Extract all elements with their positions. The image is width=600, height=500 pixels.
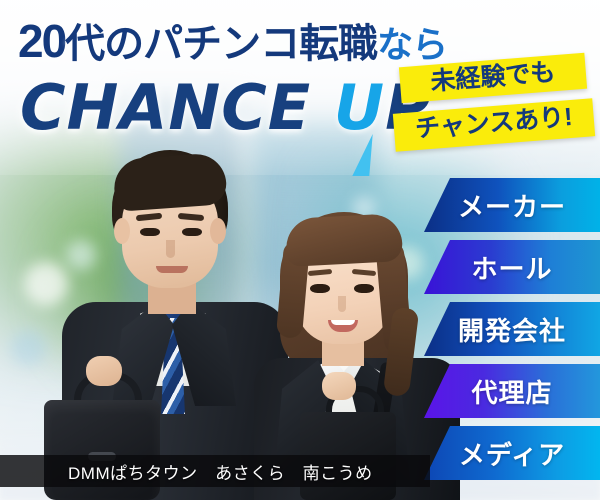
category-button-agency[interactable]: 代理店 bbox=[424, 364, 600, 418]
headline-conditional: なら bbox=[377, 24, 447, 65]
headline: 20代のパチンコ転職なら bbox=[18, 16, 478, 66]
chance-up-logo: CHANCE UP bbox=[20, 68, 420, 148]
businesswoman-eye-left bbox=[310, 284, 330, 293]
caption-bar: DMMぱちタウン あさくら 南こうめ bbox=[0, 455, 430, 487]
logo-word-chance: CHANCE bbox=[20, 71, 311, 144]
category-button-media[interactable]: メディア bbox=[424, 426, 600, 480]
category-button-maker[interactable]: メーカー bbox=[424, 178, 600, 232]
businessman-ear-right bbox=[210, 218, 226, 244]
businessman-hand bbox=[86, 356, 122, 386]
category-button-development-company[interactable]: 開発会社 bbox=[424, 302, 600, 356]
businessman-eye-right bbox=[182, 228, 202, 236]
businesswoman-fringe bbox=[285, 213, 403, 267]
businessman-ear-left bbox=[114, 218, 130, 244]
advertisement-banner[interactable]: 20代のパチンコ転職なら CHANCE UP 未経験でも チャンスあり! メーカ… bbox=[0, 0, 600, 500]
category-button-hall[interactable]: ホール bbox=[424, 240, 600, 294]
headline-age: 20 bbox=[18, 15, 65, 67]
businesswoman-eye-right bbox=[354, 284, 374, 293]
businessman-mouth bbox=[156, 266, 188, 273]
businessman-fringe bbox=[112, 152, 227, 212]
businesswoman-hand bbox=[322, 372, 356, 400]
businesswoman-nose bbox=[338, 296, 346, 312]
businesswoman-teeth bbox=[331, 320, 355, 325]
caption-text: DMMぱちタウン あさくら 南こうめ bbox=[68, 459, 373, 484]
headline-age-suffix: 代のパチンコ転職 bbox=[65, 22, 377, 66]
businessman-eye-left bbox=[140, 228, 160, 236]
businessman-nose bbox=[166, 240, 175, 258]
